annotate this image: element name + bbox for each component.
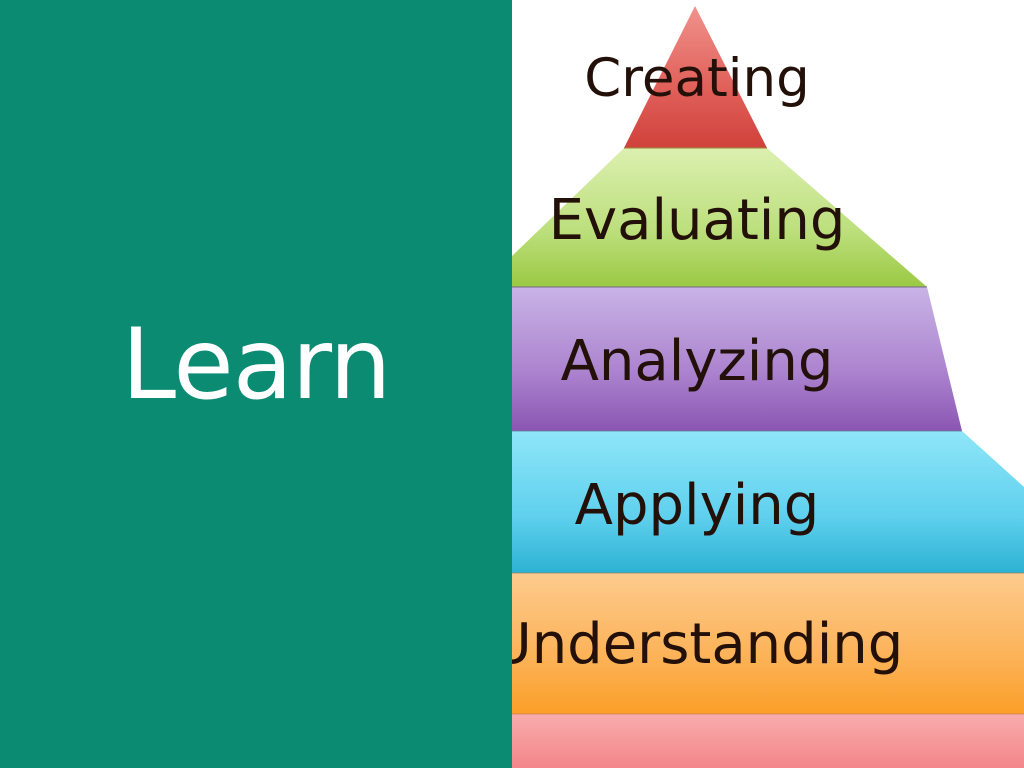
pyramid-level-remembering: [512, 714, 1024, 768]
pyramid-label-evaluating: Evaluating: [512, 193, 1024, 249]
pyramid-label-creating: Creating: [512, 52, 1024, 105]
pyramid-label-evaluating-text: Evaluating: [549, 193, 846, 249]
pyramid-label-creating-text: Creating: [584, 52, 809, 105]
page-title: Learn: [0, 316, 512, 414]
pyramid-label-understanding: Understanding: [512, 617, 1024, 673]
pyramid-label-understanding-text: Understanding: [512, 617, 903, 673]
title-panel: Learn: [0, 0, 512, 768]
pyramid-label-analyzing-text: Analyzing: [561, 334, 834, 390]
slide-canvas: Creating Evaluating Analyzing Applying U…: [0, 0, 1024, 768]
pyramid-diagram: Creating Evaluating Analyzing Applying U…: [512, 0, 1024, 768]
pyramid-label-applying-text: Applying: [575, 478, 820, 534]
pyramid-label-applying: Applying: [512, 478, 1024, 534]
pyramid-label-analyzing: Analyzing: [512, 334, 1024, 390]
